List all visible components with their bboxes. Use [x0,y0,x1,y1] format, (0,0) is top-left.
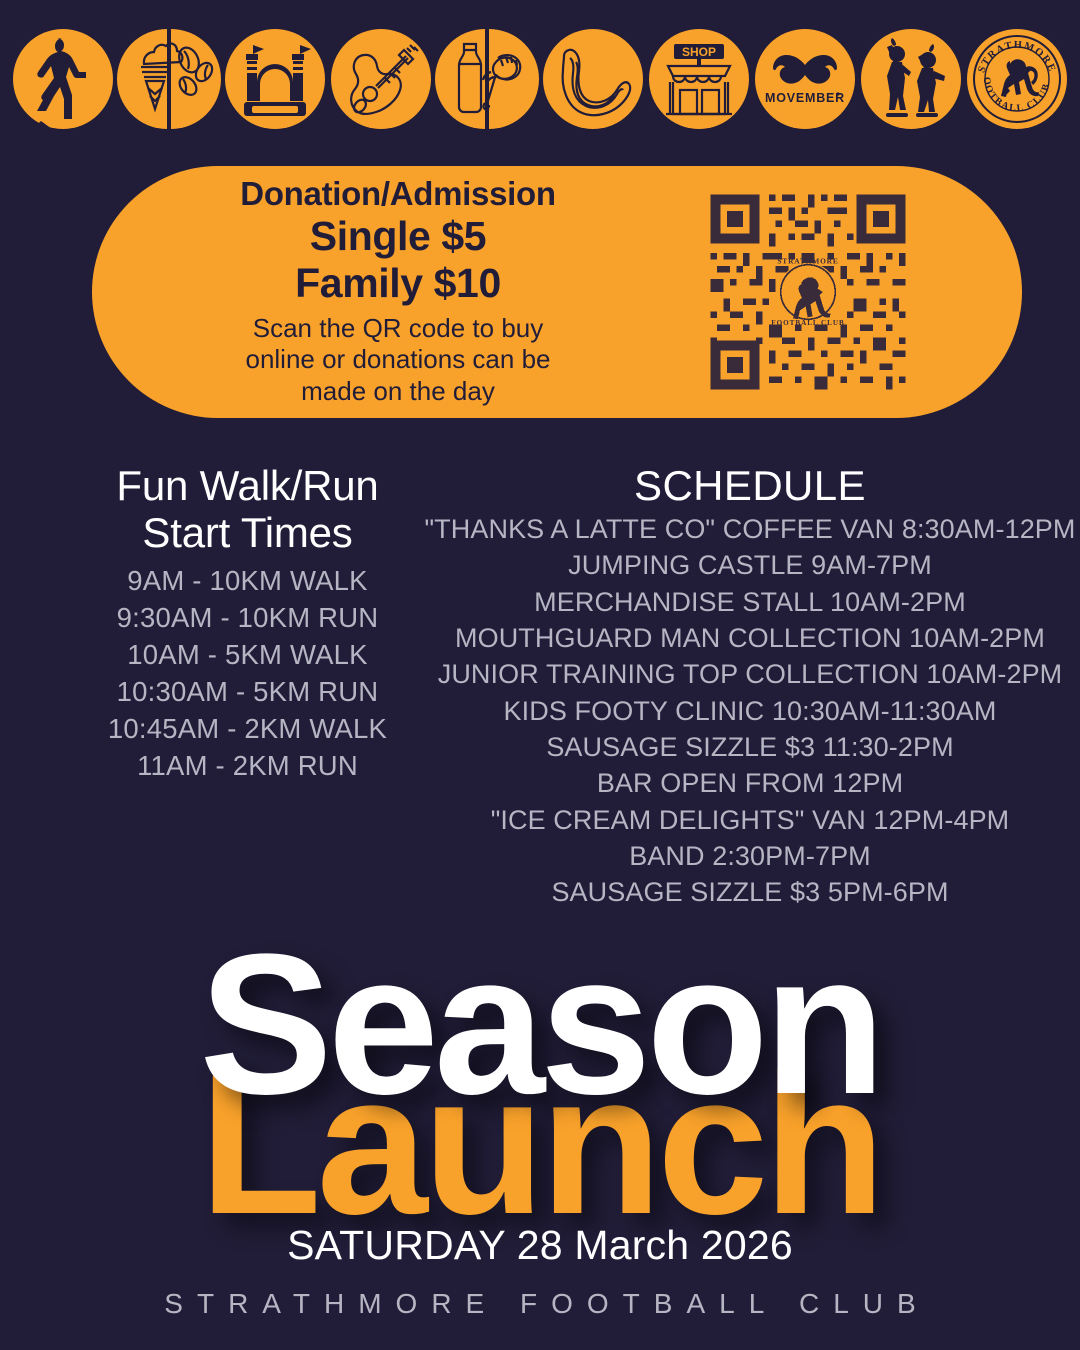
list-item: "THANKS A LATTE CO" COFFEE VAN 8:30AM-12… [420,511,1080,547]
list-item: 10AM - 5KM WALK [60,637,435,674]
title-word-season: Season [0,925,1080,1125]
beer-bottle-sausage-icon [434,20,540,138]
strathmore-football-club-crest-icon: STRATHMORE FOOTBALL CLUB [964,20,1070,138]
list-item: "ICE CREAM DELIGHTS" VAN 12PM-4PM [420,802,1080,838]
svg-text:FOOTBALL CLUB: FOOTBALL CLUB [771,319,844,327]
list-item: MERCHANDISE STALL 10AM-2PM [420,584,1080,620]
list-item: 9AM - 10KM WALK [60,563,435,600]
list-item: SAUSAGE SIZZLE $3 5PM-6PM [420,874,1080,910]
fun-walk-run-section: Fun Walk/Run Start Times 9AM - 10KM WALK… [60,462,435,785]
svg-text:SHOP: SHOP [682,45,716,59]
donation-note-line-2: online or donations can be [104,344,692,376]
list-item: BAND 2:30PM-7PM [420,838,1080,874]
svg-text:STRATHMORE: STRATHMORE [777,256,838,265]
list-item: BAR OPEN FROM 12PM [420,765,1080,801]
list-item: 10:30AM - 5KM RUN [60,674,435,711]
list-item: JUMPING CASTLE 9AM-7PM [420,547,1080,583]
fun-walk-run-heading-line-2: Start Times [60,509,435,556]
donation-note: Scan the QR code to buy online or donati… [104,313,692,408]
poster-title-block: Launch Season [0,925,1080,1225]
svg-text:MOVEMBER: MOVEMBER [765,91,845,105]
donation-admission-card: Donation/Admission Single $5 Family $10 … [92,166,1022,418]
donation-title: Donation/Admission [104,176,692,213]
club-footer: STRATHMORE FOOTBALL CLUB [0,1288,1080,1320]
schedule-heading: SCHEDULE [420,462,1080,509]
acoustic-guitar-icon [328,20,434,138]
fun-walk-run-heading: Fun Walk/Run Start Times [60,462,435,556]
donation-note-line-1: Scan the QR code to buy [104,313,692,345]
shop-stall-icon: SHOP [646,20,752,138]
schedule-list: "THANKS A LATTE CO" COFFEE VAN 8:30AM-12… [420,511,1080,910]
list-item: 9:30AM - 10KM RUN [60,600,435,637]
schedule-section: SCHEDULE "THANKS A LATTE CO" COFFEE VAN … [420,462,1080,910]
donation-note-line-3: made on the day [104,376,692,408]
list-item: MOUTHGUARD MAN COLLECTION 10AM-2PM [420,620,1080,656]
qr-code[interactable]: STRATHMORE FOOTBALL CLUB [698,185,918,399]
jumping-castle-icon [222,20,328,138]
list-item: JUNIOR TRAINING TOP COLLECTION 10AM-2PM [420,656,1080,692]
fun-walk-run-times-list: 9AM - 10KM WALK 9:30AM - 10KM RUN 10AM -… [60,563,435,785]
season-launch-poster: SHOP MOVEMBER [0,0,1080,1350]
kids-jumping-icon [858,20,964,138]
ice-cream-coffee-beans-icon [116,20,222,138]
list-item: 10:45AM - 2KM WALK [60,711,435,748]
walker-runner-icon [10,20,116,138]
donation-single-price: Single $5 [104,213,692,260]
donation-family-price: Family $10 [104,260,692,307]
fun-walk-run-heading-line-1: Fun Walk/Run [60,462,435,509]
donation-text-block: Donation/Admission Single $5 Family $10 … [92,176,692,408]
mouthguard-icon [540,20,646,138]
list-item: KIDS FOOTY CLINIC 10:30AM-11:30AM [420,693,1080,729]
event-date: SATURDAY 28 March 2026 [0,1222,1080,1269]
list-item: 11AM - 2KM RUN [60,748,435,785]
movember-moustache-icon: MOVEMBER [752,20,858,138]
icon-strip: SHOP MOVEMBER [0,20,1080,138]
list-item: SAUSAGE SIZZLE $3 11:30-2PM [420,729,1080,765]
